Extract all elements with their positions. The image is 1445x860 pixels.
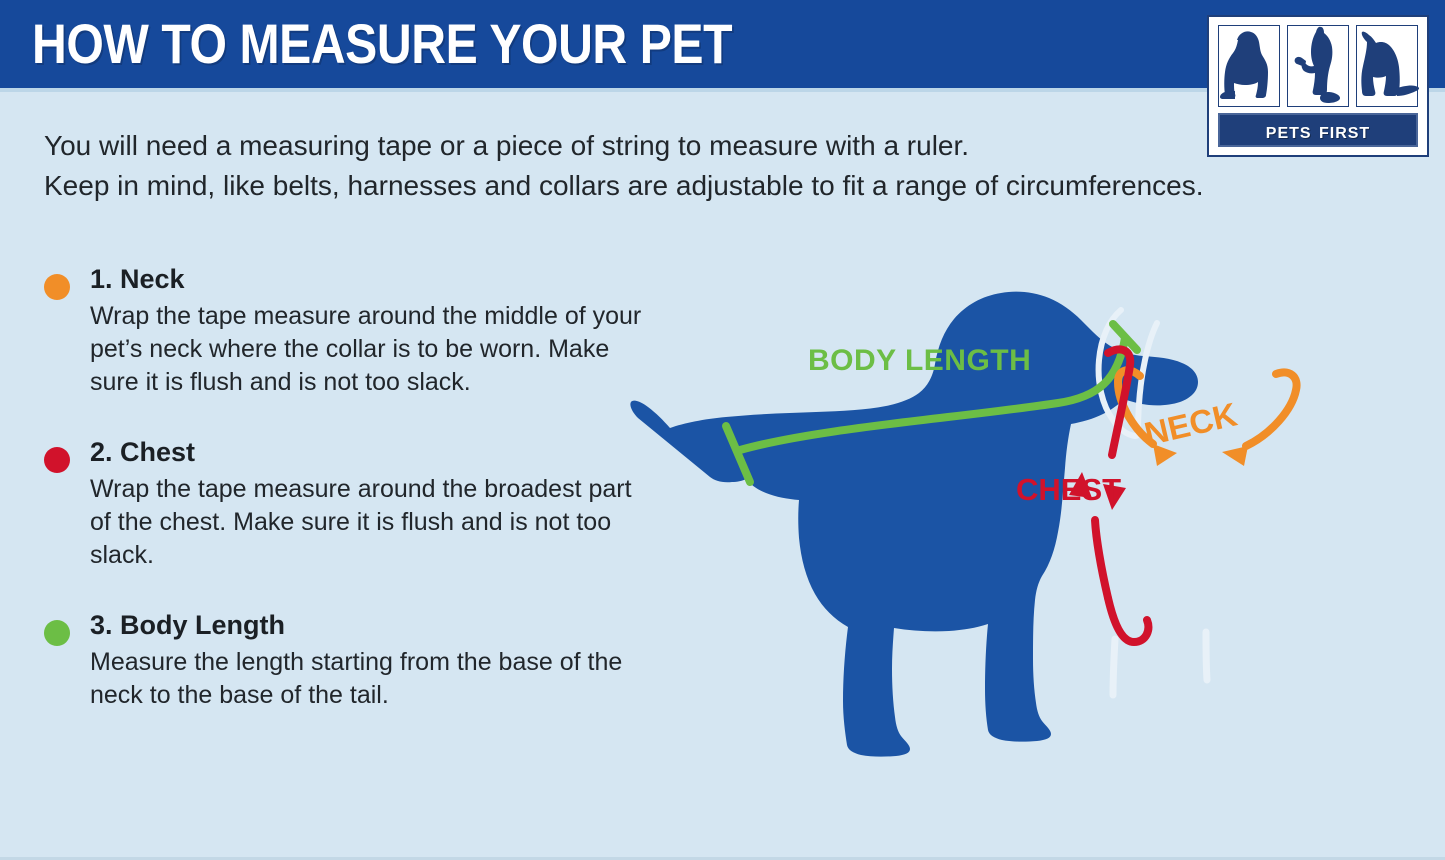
logo-wordmark: Pets First — [1266, 119, 1370, 142]
step-chest-title: 2. Chest — [90, 435, 656, 469]
dog-rear-leg-line — [1206, 632, 1207, 680]
step-chest: 2. Chest Wrap the tape measure around th… — [36, 435, 656, 572]
logo-frame-row — [1218, 25, 1418, 107]
step-body-length-title: 3. Body Length — [90, 608, 656, 642]
intro-text: You will need a measuring tape or a piec… — [44, 126, 1194, 206]
step-neck-body: Wrap the tape measure around the middle … — [90, 300, 656, 399]
step-chest-body: Wrap the tape measure around the broades… — [90, 473, 656, 572]
logo-frame-2 — [1287, 25, 1349, 107]
step-body-length-body: Measure the length starting from the bas… — [90, 646, 656, 712]
step-neck-title: 1. Neck — [90, 262, 656, 296]
page-title: HOW TO MEASURE YOUR PET — [32, 14, 732, 74]
logo-wordmark-band: Pets First — [1218, 113, 1418, 147]
brand-logo: Pets First — [1207, 15, 1429, 157]
intro-line-1: You will need a measuring tape or a piec… — [44, 126, 1194, 166]
measure-guide-page: HOW TO MEASURE YOUR PET — [0, 0, 1445, 860]
intro-line-2: Keep in mind, like belts, harnesses and … — [44, 166, 1194, 206]
bullet-neck-icon — [44, 274, 70, 300]
logo-frame-1 — [1218, 25, 1280, 107]
label-body-length: BODY LENGTH — [808, 346, 1031, 376]
label-chest: CHEST — [1016, 474, 1121, 505]
dog-front-leg-line — [1113, 639, 1115, 695]
measurement-steps-list: 1. Neck Wrap the tape measure around the… — [36, 262, 656, 748]
step-neck: 1. Neck Wrap the tape measure around the… — [36, 262, 656, 399]
logo-frame-3 — [1356, 25, 1418, 107]
bullet-body-length-icon — [44, 620, 70, 646]
bullet-chest-icon — [44, 447, 70, 473]
step-body-length: 3. Body Length Measure the length starti… — [36, 608, 656, 712]
dog-measurement-diagram: BODY LENGTH NECK CHEST — [628, 228, 1445, 860]
